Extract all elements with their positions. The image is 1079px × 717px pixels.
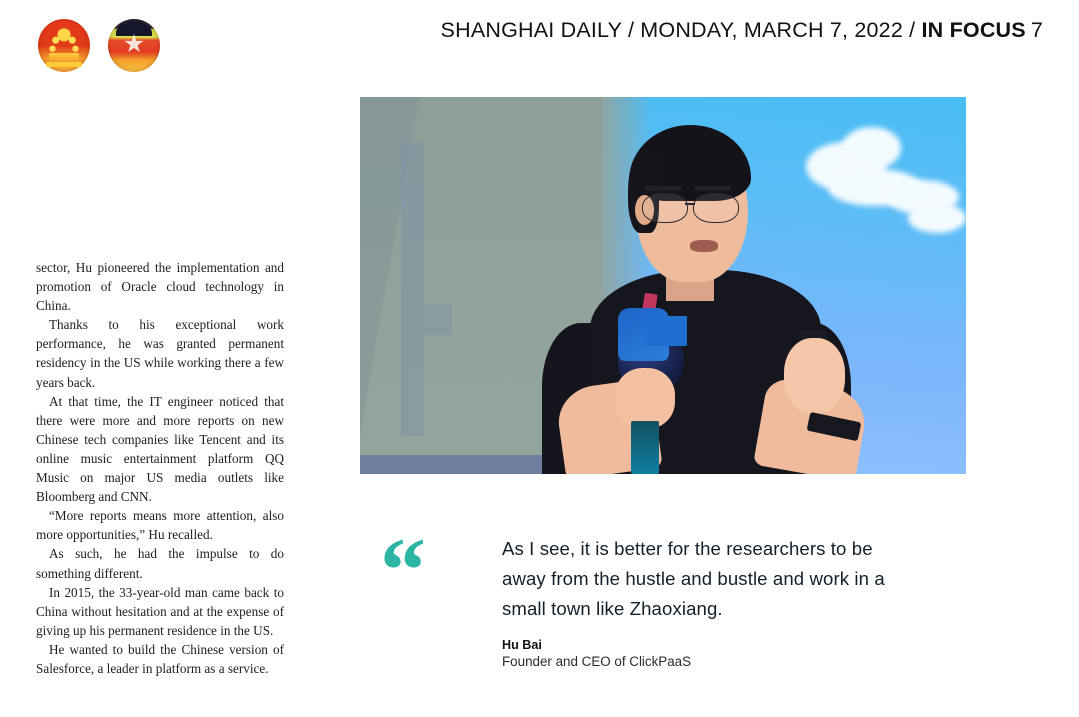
cppcc-emblem-icon <box>106 16 162 76</box>
header-publication-date: SHANGHAI DAILY / MONDAY, MARCH 7, 2022 / <box>441 18 922 42</box>
photo-microphone-logo-flag <box>645 316 687 346</box>
article-column: sector, Hu pioneered the implementation … <box>36 258 284 678</box>
quotation-mark-icon: “ <box>380 536 424 605</box>
article-paragraph: He wanted to build the Chinese version o… <box>36 640 284 678</box>
article-paragraph: At that time, the IT engineer noticed th… <box>36 392 284 507</box>
photo-subject-hand-left <box>615 368 676 428</box>
pull-quote-role: Founder and CEO of ClickPaaS <box>502 654 980 669</box>
article-paragraph: sector, Hu pioneered the implementation … <box>36 258 284 315</box>
masthead: SHANGHAI DAILY / MONDAY, MARCH 7, 2022 /… <box>0 0 1079 92</box>
pull-quote: “ As I see, it is better for the researc… <box>380 534 980 669</box>
photo-subject-glasses-bridge <box>685 203 695 205</box>
photo-subject-brow-left <box>645 186 681 191</box>
photo-subject-glasses-right <box>693 193 739 223</box>
speaker-photo <box>360 97 966 474</box>
photo-subject-brow-right <box>695 186 731 191</box>
article-paragraph: In 2015, the 33-year-old man came back t… <box>36 583 284 640</box>
pull-quote-author: Hu Bai <box>502 638 980 652</box>
header-dateline: SHANGHAI DAILY / MONDAY, MARCH 7, 2022 /… <box>441 18 1043 43</box>
article-paragraph: As such, he had the impulse to do someth… <box>36 544 284 582</box>
photo-microphone-body <box>631 421 659 474</box>
emblem-group <box>36 16 162 76</box>
photo-subject-mouth <box>690 240 718 251</box>
photo-subject-hand-right <box>784 338 845 413</box>
page-number: 7 <box>1031 18 1043 42</box>
photo-subject-glasses-left <box>642 193 688 223</box>
pull-quote-text: As I see, it is better for the researche… <box>502 534 914 624</box>
national-emblem-of-china-icon <box>36 16 92 76</box>
article-paragraph: “More reports means more attention, also… <box>36 506 284 544</box>
article-paragraph: Thanks to his exceptional work performan… <box>36 315 284 391</box>
header-section-label: IN FOCUS <box>922 18 1026 42</box>
